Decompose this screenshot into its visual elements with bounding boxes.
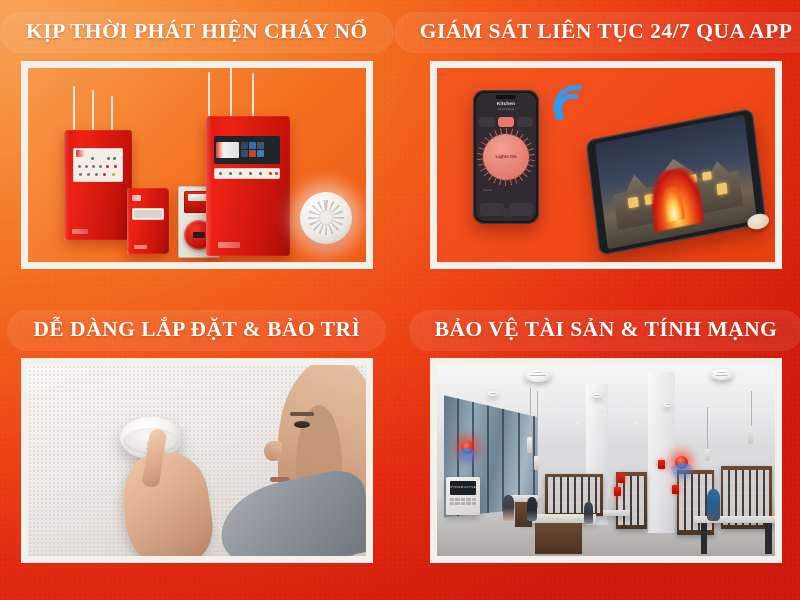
feature-card-giam-sat-lien-tuc: GIÁM SÁT LIÊN TỤC 24/7 QUA APP Kitchen S… — [394, 0, 800, 300]
title-pill-1: KỊP THỜI PHÁT HIỆN CHÁY NỔ — [0, 12, 394, 53]
led-indicator — [114, 165, 117, 168]
panel-brand-strip — [72, 229, 88, 234]
led-indicator — [79, 173, 82, 176]
eyebrow — [290, 412, 314, 416]
brand-logo — [216, 142, 240, 158]
app-tab-lights[interactable] — [479, 117, 495, 127]
keypad-key — [461, 498, 465, 501]
manual-call-point — [618, 474, 625, 483]
card-title-2: GIÁM SÁT LIÊN TỤC 24/7 QUA APP — [420, 19, 793, 44]
panel-display — [132, 208, 164, 220]
title-pill-3: DỄ DÀNG LẮP ĐẶT & BẢO TRÌ — [7, 310, 386, 351]
display-table — [694, 516, 775, 524]
shelf-products — [618, 476, 645, 525]
eye — [294, 421, 310, 428]
display-shelf — [545, 474, 602, 516]
house-window — [702, 171, 712, 181]
title-pill-4: BẢO VỆ TÀI SẢN & TÍNH MẠNG — [409, 310, 800, 351]
keypad-key — [450, 502, 454, 505]
led-indicator — [99, 165, 102, 168]
led-indicator — [87, 173, 90, 176]
phone-screen[interactable]: Kitchen Smart Home Lights ON Scenes — [476, 93, 536, 221]
led-indicator — [106, 165, 109, 168]
smoke-detector-ceiling — [711, 369, 733, 380]
led-indicator — [103, 173, 106, 176]
ceiling-downlight — [576, 422, 580, 425]
app-tab-climate[interactable] — [498, 117, 514, 127]
photo-frame-1 — [21, 61, 373, 269]
feature-card-grid: KỊP THỜI PHÁT HIỆN CHÁY NỔ — [0, 0, 800, 600]
app-tab-devices[interactable] — [517, 117, 533, 127]
antenna-icon — [73, 86, 75, 136]
table-leg — [701, 523, 708, 554]
control-panel-keypad — [450, 498, 476, 505]
fire-sounder-strobe — [675, 456, 688, 469]
antenna-icon — [230, 68, 232, 118]
fire-core — [660, 185, 686, 223]
keypad-key — [461, 502, 465, 505]
shopper — [503, 495, 514, 521]
app-room-title: Kitchen — [497, 101, 515, 106]
led-indicator — [219, 172, 222, 175]
ceiling-downlight — [505, 407, 509, 410]
display-table — [603, 510, 630, 516]
keypad-key — [472, 498, 476, 501]
led-indicator — [269, 172, 272, 175]
led-indicator — [112, 173, 115, 176]
photo-frame-2: Kitchen Smart Home Lights ON Scenes — [430, 61, 782, 269]
smoke-detector — [300, 192, 352, 244]
card-title-1: KỊP THỜI PHÁT HIỆN CHÁY NỔ — [26, 19, 368, 44]
smoke-detector-ceiling — [525, 369, 551, 382]
panel-brand-strip — [218, 242, 240, 248]
table-base — [535, 523, 582, 554]
photo-app-monitoring: Kitchen Smart Home Lights ON Scenes — [437, 68, 775, 262]
pendant-light — [527, 437, 532, 453]
fire-alarm-control-panel-large — [206, 116, 290, 256]
pendant-cord — [707, 407, 708, 449]
scene-card[interactable] — [509, 203, 533, 216]
pendant-light — [748, 426, 753, 444]
photo-frame-4: SYSTEM ACTIVE — [430, 358, 782, 563]
tablet[interactable] — [586, 108, 767, 256]
fire-alarm-repeater — [127, 188, 169, 254]
led-indicator — [107, 157, 110, 160]
house-window — [716, 182, 728, 196]
photo-frame-3: )) — [21, 358, 373, 563]
pendant-cord — [537, 391, 538, 456]
fire-alarm-control-panel: SYSTEM ACTIVE — [446, 477, 480, 515]
control-panel-display: SYSTEM ACTIVE — [450, 481, 476, 495]
manual-call-point — [672, 485, 679, 494]
keypad-key — [466, 502, 470, 505]
panel-brand-strip — [134, 245, 147, 249]
wifi-icon — [546, 81, 592, 123]
nose — [264, 441, 282, 461]
led-indicator — [113, 157, 116, 160]
control-panel-status-text: SYSTEM ACTIVE — [450, 486, 476, 490]
smartphone[interactable]: Kitchen Smart Home Lights ON Scenes — [473, 90, 539, 224]
led-indicator — [239, 172, 242, 175]
shopper — [707, 489, 720, 521]
lights-dial[interactable]: Lights ON — [483, 134, 529, 180]
store-pillar — [648, 372, 675, 532]
app-room-subtitle: Smart Home — [498, 107, 515, 111]
display-tiles — [241, 142, 264, 157]
photo-install-maintain: )) — [28, 365, 366, 556]
pendant-light — [705, 449, 710, 461]
manual-call-point — [658, 460, 665, 469]
brand-logo — [76, 150, 85, 157]
panel-touch-display — [214, 136, 280, 164]
fire-sounder-strobe — [461, 441, 474, 454]
manual-call-point — [614, 487, 621, 496]
keypad-key — [455, 502, 459, 505]
keypad-key — [466, 498, 470, 501]
display-glass — [134, 210, 162, 218]
phone-notch — [496, 95, 516, 99]
panel-face — [73, 148, 123, 182]
feature-card-de-dang-lap-dat: DỄ DÀNG LẮP ĐẶT & BẢO TRÌ )) — [0, 300, 394, 600]
brand-logo — [132, 195, 141, 201]
led-indicator — [275, 172, 278, 175]
table-leg — [765, 523, 772, 554]
app-tab-bar[interactable] — [479, 117, 533, 127]
scene-card[interactable] — [480, 203, 504, 216]
led-indicator — [95, 173, 98, 176]
antenna-icon — [252, 73, 254, 118]
pendant-light — [534, 456, 539, 470]
feature-card-kip-thoi-phat-hien-chay-no: KỊP THỜI PHÁT HIỆN CHÁY NỔ — [0, 0, 394, 300]
app-section-label: Scenes — [483, 188, 492, 192]
title-pill-2: GIÁM SÁT LIÊN TỤC 24/7 QUA APP — [394, 12, 800, 53]
tablet-screen[interactable] — [595, 114, 757, 248]
led-indicator — [91, 157, 94, 160]
led-indicator — [249, 172, 252, 175]
home-button[interactable] — [502, 208, 511, 217]
photo-store-protection: SYSTEM ACTIVE — [437, 365, 775, 556]
keypad-key — [472, 502, 476, 505]
pendant-cord — [751, 391, 752, 425]
keypad-key — [450, 498, 454, 501]
fire-alarm-control-panel-small — [64, 130, 132, 240]
antenna-icon — [208, 72, 210, 118]
card-title-3: DỄ DÀNG LẮP ĐẶT & BẢO TRÌ — [33, 317, 360, 342]
led-indicator — [92, 165, 95, 168]
shopper — [527, 497, 537, 521]
led-indicator — [259, 172, 262, 175]
panel-button-row — [214, 168, 280, 179]
pendant-cord — [530, 388, 531, 438]
shopper — [584, 502, 593, 524]
led-indicator — [85, 165, 88, 168]
led-indicator — [78, 165, 81, 168]
keypad-key — [455, 498, 459, 501]
photo-fire-alarm-equipment — [28, 68, 366, 262]
led-indicator — [229, 172, 232, 175]
house-window — [628, 197, 640, 209]
dial-ticks — [477, 128, 535, 186]
card-title-4: BẢO VỆ TÀI SẢN & TÍNH MẠNG — [435, 317, 778, 342]
window-mullion — [487, 395, 489, 517]
feature-card-bao-ve-tai-san: BẢO VỆ TÀI SẢN & TÍNH MẠNG — [394, 300, 800, 600]
